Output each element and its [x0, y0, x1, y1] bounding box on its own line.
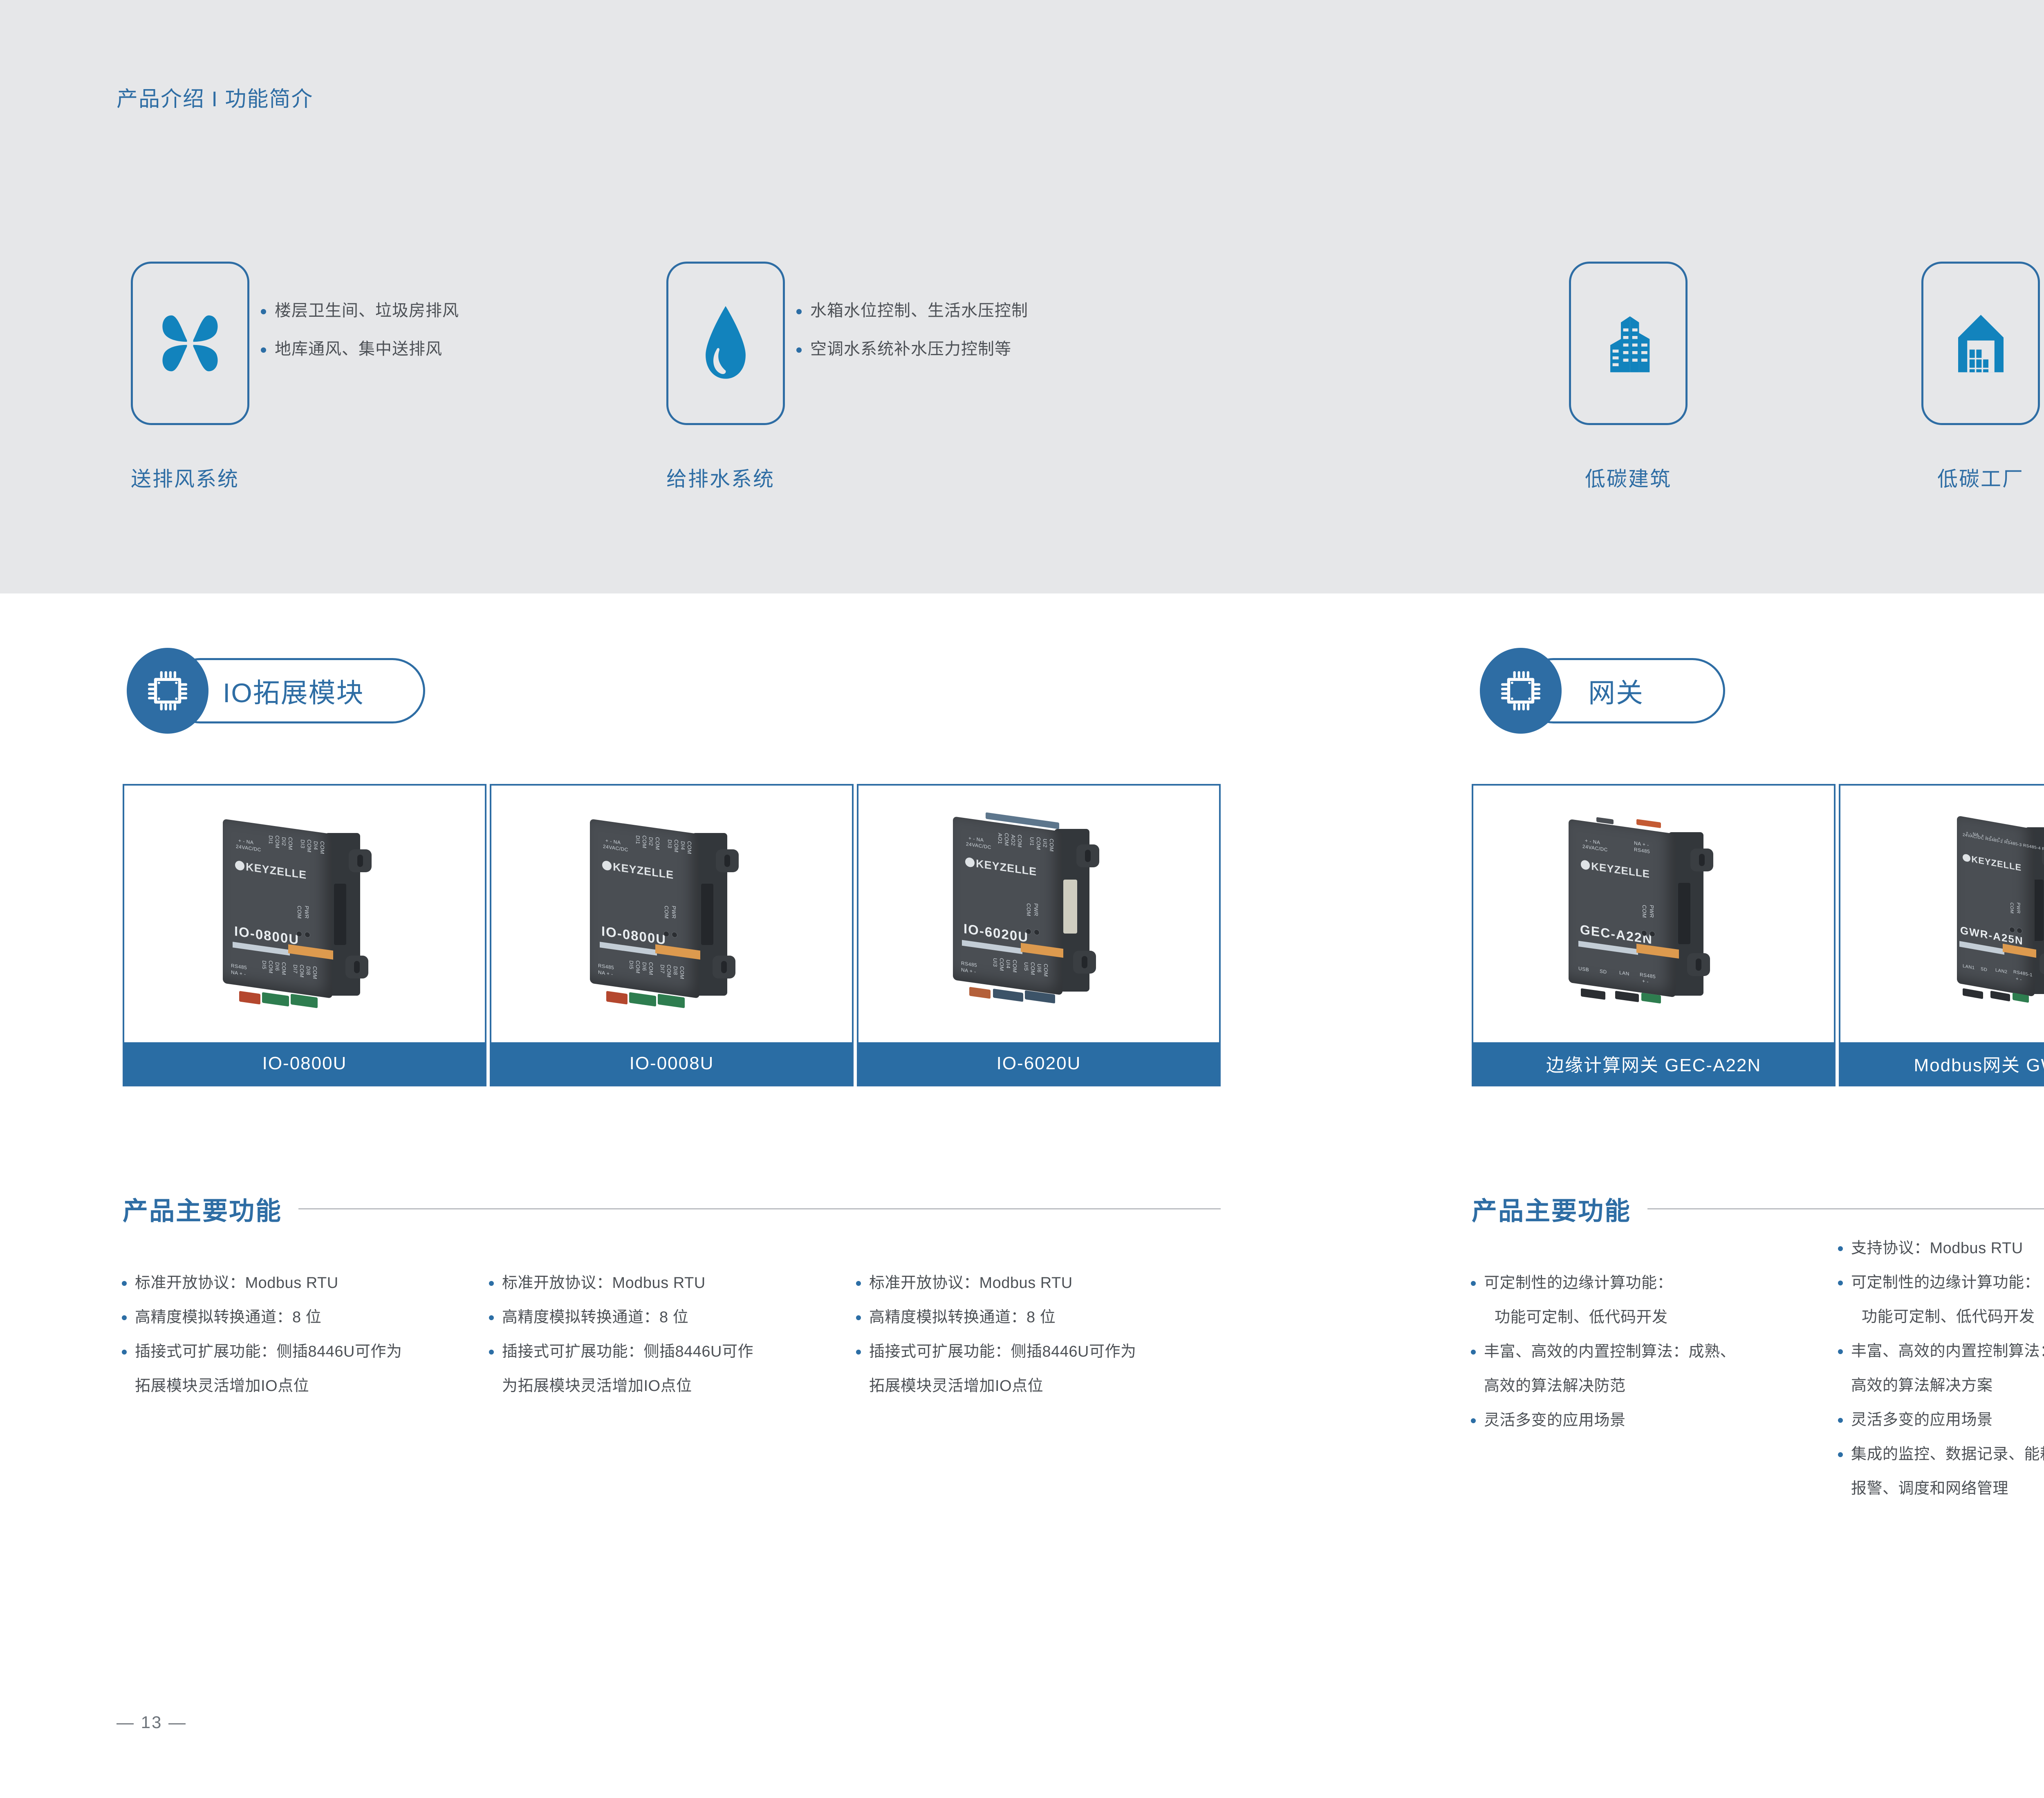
water-bullet-list: 水箱水位控制、生活水压控制 空调水系统补水压力控制等	[810, 302, 1178, 379]
list-item: 可定制性的边缘计算功能： 功能可定制、低代码开发	[1851, 1275, 2044, 1325]
office-buildings-icon-frame	[1569, 262, 1688, 425]
product-card[interactable]: KEYZELLE IO-0800U + - NA 24VAC/DC DI1 CO…	[490, 784, 854, 1086]
features-heading-gateway: 产品主要功能	[1472, 1190, 2044, 1227]
water-drop-icon	[695, 302, 756, 384]
product-image: KEYZELLE IO-0800U + - NA 24VAC/DC DI1 CO…	[491, 786, 852, 1042]
section-badge-label: 网关	[1588, 671, 1644, 710]
list-item: 丰富、高效的内置控制算法：成熟、 高效的算法解决防范	[1484, 1344, 1827, 1394]
list-item: 灵活多变的应用场景	[1484, 1413, 1827, 1428]
product-card[interactable]: KEYZELLE IO-6020U + - NA 24VAC/DC AO1 CO…	[857, 784, 1221, 1086]
factory-icon-frame	[1921, 262, 2040, 425]
section-badge-io-modules: IO拓展模块	[127, 648, 425, 734]
factory-icon	[1943, 306, 2019, 381]
list-item-line: 为拓展模块灵活增加IO点位	[502, 1378, 837, 1394]
list-item-line: 报警、调度和网络管理	[1851, 1481, 2044, 1496]
ventilation-bullet-list: 楼层卫生间、垃圾房排风 地库通风、集中送排风	[275, 302, 643, 379]
list-item-line: 拓展模块灵活增加IO点位	[135, 1378, 470, 1394]
list-item: 空调水系统补水压力控制等	[810, 341, 1178, 357]
list-item: 标准开放协议：Modbus RTU	[502, 1275, 837, 1291]
section-badge-label: IO拓展模块	[223, 671, 364, 710]
list-item-line: 拓展模块灵活增加IO点位	[869, 1378, 1204, 1394]
product-label: IO-6020U	[858, 1042, 1219, 1085]
feature-column: 可定制性的边缘计算功能： 功能可定制、低代码开发 丰富、高效的内置控制算法：成熟…	[1484, 1275, 1827, 1447]
feature-column: 标准开放协议：Modbus RTU 高精度模拟转换通道：8 位 插接式可扩展功能…	[502, 1275, 837, 1413]
product-image: KEYZELLE IO-6020U + - NA 24VAC/DC AO1 CO…	[858, 786, 1219, 1042]
list-item-line: 丰富、高效的内置控制算法：成熟、	[1851, 1343, 2044, 1360]
running-header-left: 产品介绍 I 功能简介	[117, 82, 313, 112]
fan-icon	[151, 305, 229, 382]
product-label: IO-0800U	[124, 1042, 485, 1085]
section-title: 产品主要功能	[123, 1190, 282, 1227]
list-item: 灵活多变的应用场景	[1851, 1412, 2044, 1428]
list-item: 支持协议：Modbus RTU	[1851, 1240, 2044, 1256]
list-item: 高精度模拟转换通道：8 位	[869, 1310, 1204, 1325]
section-title: 产品主要功能	[1472, 1190, 1631, 1227]
list-item: 楼层卫生间、垃圾房排风	[275, 302, 643, 319]
list-item-line: 功能可定制、低代码开发	[1484, 1310, 1827, 1325]
list-item: 可定制性的边缘计算功能： 功能可定制、低代码开发	[1484, 1275, 1827, 1325]
feature-column: 标准开放协议：Modbus RTU 高精度模拟转换通道：8 位 插接式可扩展功能…	[135, 1275, 470, 1413]
brochure-page: 产品介绍 I 功能简介 产品介绍 I 功能简介 楼层卫生间、垃圾房排风 地库通风…	[0, 0, 2044, 1798]
chip-icon-circle	[1480, 648, 1562, 734]
page-number-left: — 13 —	[117, 1713, 187, 1732]
list-item-line: 丰富、高效的内置控制算法：成熟、	[1484, 1343, 1736, 1360]
list-item-line: 插接式可扩展功能：侧插8446U可作为	[869, 1343, 1136, 1360]
product-image: KEYZELLE GWR-A25N + - NA + - + - + - + -…	[1840, 786, 2044, 1042]
list-item-line: 高效的算法解决方案	[1851, 1378, 2044, 1393]
target-caption: 低碳建筑	[1569, 463, 1688, 492]
product-card[interactable]: KEYZELLE GWR-A25N + - NA + - + - + - + -…	[1839, 784, 2044, 1086]
list-item: 标准开放协议：Modbus RTU	[869, 1275, 1204, 1291]
list-item: 集成的监控、数据记录、能耗计量、 报警、调度和网络管理	[1851, 1446, 2044, 1496]
feature-column: 支持协议：Modbus RTU 可定制性的边缘计算功能： 功能可定制、低代码开发…	[1851, 1240, 2044, 1515]
scenario-card-water: 水箱水位控制、生活水压控制 空调水系统补水压力控制等 给排水系统	[666, 262, 785, 492]
list-item: 地库通风、集中送排风	[275, 341, 643, 357]
office-buildings-icon	[1591, 306, 1666, 381]
water-drop-icon-frame	[666, 262, 785, 425]
list-item-line: 高效的算法解决防范	[1484, 1378, 1827, 1394]
list-item-line: 插接式可扩展功能：侧插8446U可作为	[135, 1343, 402, 1360]
list-item-line: 可定制性的边缘计算功能：	[1484, 1274, 1673, 1292]
scenario-caption: 送排风系统	[131, 463, 249, 492]
list-item-line: 功能可定制、低代码开发	[1851, 1309, 2044, 1325]
list-item: 标准开放协议：Modbus RTU	[135, 1275, 470, 1291]
section-badge-gateway: 网关	[1480, 648, 1725, 734]
list-item: 水箱水位控制、生活水压控制	[810, 302, 1178, 319]
list-item-line: 可定制性的边缘计算功能：	[1851, 1274, 2040, 1291]
target-card-factory: 低碳工厂	[1921, 262, 2040, 492]
list-item-line: 集成的监控、数据记录、能耗计量、	[1851, 1446, 2044, 1463]
list-item: 插接式可扩展功能：侧插8446U可作为 拓展模块灵活增加IO点位	[135, 1344, 470, 1394]
heading-rule	[1647, 1208, 2044, 1209]
list-item: 插接式可扩展功能：侧插8446U可作 为拓展模块灵活增加IO点位	[502, 1344, 837, 1394]
list-item: 高精度模拟转换通道：8 位	[502, 1310, 837, 1325]
chip-icon	[1497, 667, 1545, 715]
heading-rule	[298, 1208, 1221, 1209]
features-heading-io: 产品主要功能	[123, 1190, 1221, 1227]
product-image: KEYZELLE IO-0800U + - NA 24VAC/DC DI1 CO…	[124, 786, 485, 1042]
target-card-building: 低碳建筑	[1569, 262, 1688, 492]
product-label: Modbus网关 GWR-A25N	[1840, 1042, 2044, 1085]
product-label: 边缘计算网关 GEC-A22N	[1473, 1042, 1834, 1085]
product-card[interactable]: KEYZELLE IO-0800U + - NA 24VAC/DC DI1 CO…	[123, 784, 486, 1086]
list-item: 高精度模拟转换通道：8 位	[135, 1310, 470, 1325]
fan-icon-frame	[131, 262, 249, 425]
product-card[interactable]: KEYZELLE GEC-A22N + - NA 24VAC/DC NA + -…	[1472, 784, 1836, 1086]
scenario-caption: 给排水系统	[666, 463, 785, 492]
list-item-line: 插接式可扩展功能：侧插8446U可作	[502, 1343, 753, 1360]
chip-icon-circle	[127, 648, 208, 734]
scenario-card-ventilation: 楼层卫生间、垃圾房排风 地库通风、集中送排风 送排风系统	[131, 262, 249, 492]
product-label: IO-0008U	[491, 1042, 852, 1085]
target-caption: 低碳工厂	[1921, 463, 2040, 492]
list-item: 丰富、高效的内置控制算法：成熟、 高效的算法解决方案	[1851, 1343, 2044, 1393]
feature-column: 标准开放协议：Modbus RTU 高精度模拟转换通道：8 位 插接式可扩展功能…	[869, 1275, 1204, 1413]
product-image: KEYZELLE GEC-A22N + - NA 24VAC/DC NA + -…	[1473, 786, 1834, 1042]
list-item: 插接式可扩展功能：侧插8446U可作为 拓展模块灵活增加IO点位	[869, 1344, 1204, 1394]
chip-icon	[143, 667, 192, 715]
